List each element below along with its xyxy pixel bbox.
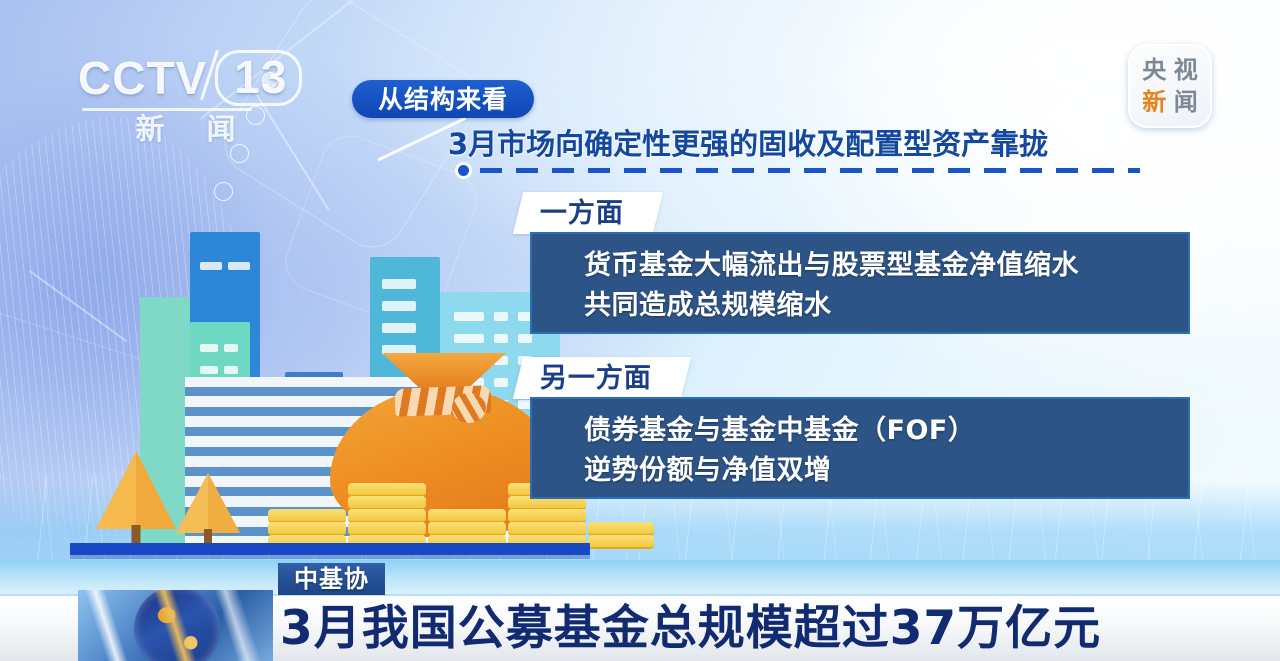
cctv-channel-number: 13 (215, 50, 302, 106)
block-tab-2: 另一方面 (513, 357, 691, 399)
block-2-line-1: 债券基金与基金中基金（FOF） (584, 411, 1188, 451)
dashed-rule (480, 168, 1140, 173)
news-globe-graphic (78, 590, 273, 661)
tree-large (96, 451, 176, 547)
tree-small (176, 473, 240, 547)
block-panel-1: 货币基金大幅流出与股票型基金净值缩水 共同造成总规模缩水 (530, 232, 1190, 334)
block-tab-1-label: 一方面 (540, 200, 624, 227)
graphic-headline: 3月市场向确定性更强的固收及配置型资产靠拢 (448, 128, 1048, 161)
bullet-dot-marker (455, 162, 472, 179)
coin-stack-2 (348, 484, 426, 549)
money-bag-knot (452, 393, 486, 423)
cctv-subtitle: 新 闻 (78, 115, 293, 144)
block-panel-2: 债券基金与基金中基金（FOF） 逆势份额与净值双增 (530, 397, 1190, 499)
block-tab-1: 一方面 (513, 192, 663, 234)
block-1-line-1: 货币基金大幅流出与股票型基金净值缩水 (584, 246, 1188, 286)
logo-char-yang: 央 (1139, 55, 1170, 86)
broadcast-screen: CCTV 13 新 闻 央 视 新 闻 (0, 0, 1280, 661)
cctv-watermark: CCTV 13 新 闻 (78, 50, 293, 146)
coin-stack-5 (588, 523, 654, 549)
logo-char-wen: 闻 (1171, 87, 1202, 118)
block-2-line-2: 逆势份额与净值双增 (584, 451, 1188, 491)
lower-third: 中基协 3月我国公募基金总规模超过37万亿元 (0, 560, 1280, 661)
cctv-news-app-logo: 央 视 新 闻 (1128, 44, 1212, 128)
logo-char-shi: 视 (1171, 55, 1202, 86)
block-1-line-2: 共同造成总规模缩水 (584, 286, 1188, 326)
block-tab-2-label: 另一方面 (540, 365, 652, 392)
source-badge: 中基协 (278, 563, 385, 595)
cctv-letters: CCTV (78, 55, 207, 101)
cctv-wordmark: CCTV 13 (78, 50, 293, 106)
ground-bar (70, 543, 590, 555)
logo-char-xin: 新 (1139, 87, 1170, 118)
section-pill: 从结构来看 (352, 80, 534, 118)
cctv-underline (82, 108, 252, 111)
lower-third-title: 3月我国公募基金总规模超过37万亿元 (280, 596, 1101, 661)
